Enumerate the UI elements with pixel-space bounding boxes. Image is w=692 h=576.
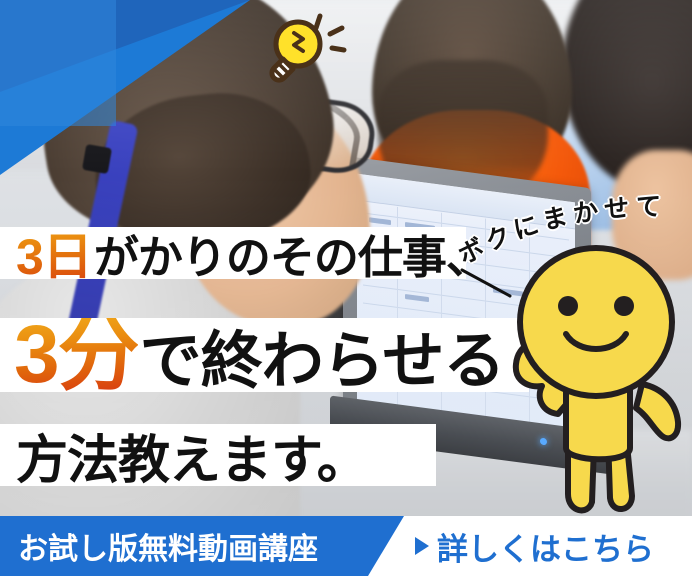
- trial-course-badge-label: お試し版無料動画講座: [18, 524, 318, 568]
- headline-line-3-text: 方法教えます。: [16, 418, 368, 493]
- trial-course-badge[interactable]: お試し版無料動画講座: [0, 516, 404, 576]
- details-link-label: 詳しくはこちら: [437, 524, 654, 569]
- speech-char-4: ま: [539, 197, 571, 237]
- mascot-character: [496, 236, 692, 526]
- headline-line-3: 方法教えます。: [0, 424, 436, 486]
- details-link[interactable]: 詳しくはこちら: [415, 516, 654, 576]
- headline-line-2: 3分 で終わらせる: [0, 318, 529, 392]
- headline-line-1: 3日 がかりのその仕事、: [0, 227, 466, 279]
- speech-char-7: て: [636, 187, 661, 223]
- corner-ribbon: [0, 0, 260, 210]
- headline-line-2-text: で終わらせる: [140, 310, 505, 400]
- speech-char-6: せ: [603, 188, 630, 226]
- bottom-cta-bar[interactable]: お試し版無料動画講座 詳しくはこちら: [0, 516, 692, 576]
- lightbulb-icon: [258, 6, 356, 84]
- headline-line-2-highlight: 3分: [14, 318, 138, 392]
- play-triangle-icon: [415, 537, 429, 555]
- headline-line-1-text: がかりのその仕事、: [94, 221, 490, 286]
- headline-line-1-highlight: 3日: [16, 217, 92, 289]
- speech-char-5: か: [571, 191, 601, 230]
- banner-ad[interactable]: 3日 がかりのその仕事、 3分 で終わらせる 方法教えます。 ボ ク に ま か…: [0, 0, 692, 576]
